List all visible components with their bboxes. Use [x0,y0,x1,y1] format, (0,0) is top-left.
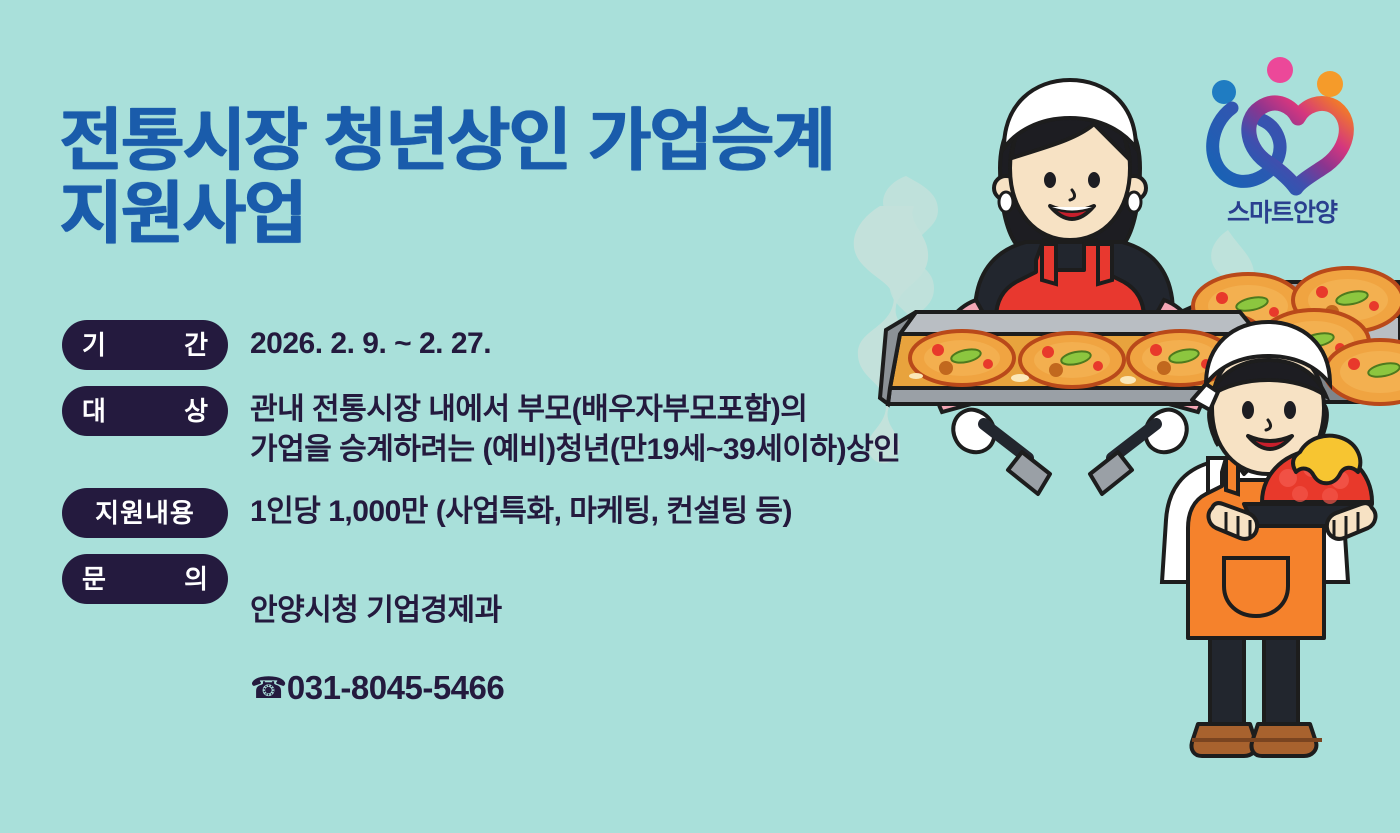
info-list: 기 간 2026. 2. 9. ~ 2. 27. 대 상 관내 전통시장 내에서… [62,318,1182,761]
badge-support: 지원내용 [62,488,228,538]
smart-anyang-logo: 스마트안양 [1192,46,1372,231]
badge-target-char1: 대 [82,398,106,424]
man-vendor-illustration [1162,322,1375,756]
logo-wordmark: 스마트안양 [1192,193,1372,229]
badge-target: 대 상 [62,386,228,436]
period-value: 2026. 2. 9. ~ 2. 27. [250,318,491,364]
info-row-contact: 문 의 안양시청 기업경제과 ☎ 031-8045-5466 [62,552,1182,747]
badge-contact-char2: 의 [184,566,208,592]
steam-right-icon [1211,230,1254,402]
title-line-2: 지원사업 [60,178,835,251]
contact-phone-line: ☎ 031-8045-5466 [250,667,504,709]
support-value: 1인당 1,000만 (사업특화, 마케팅, 컨설팅 등) [250,486,792,532]
info-row-period: 기 간 2026. 2. 9. ~ 2. 27. [62,318,1182,370]
badge-contact: 문 의 [62,554,228,604]
badge-period: 기 간 [62,320,228,370]
badge-contact-char1: 문 [82,566,106,592]
badge-period-char1: 기 [82,332,106,358]
title-line-1: 전통시장 청년상인 가업승계 [60,105,835,178]
badge-support-label: 지원내용 [95,500,195,526]
logo-dot-orange [1317,71,1343,97]
contact-department: 안양시청 기업경제과 [250,592,504,630]
logo-dot-pink [1267,57,1293,83]
smart-anyang-logo-mark [1192,46,1372,206]
telephone-icon: ☎ [250,674,287,704]
badge-target-char2: 상 [184,398,208,424]
poster-root: 전통시장 청년상인 가업승계 지원사업 기 간 2026. 2. 9. ~ 2.… [0,0,1400,833]
contact-block: 안양시청 기업경제과 ☎ 031-8045-5466 [250,552,504,747]
badge-period-char2: 간 [184,332,208,358]
logo-dot-blue [1212,80,1236,104]
contact-phone-number: 031-8045-5466 [287,667,504,709]
info-row-target: 대 상 관내 전통시장 내에서 부모(배우자부모포함)의 가업을 승계하려는 (… [62,384,1182,470]
page-title: 전통시장 청년상인 가업승계 지원사업 [60,105,835,252]
info-row-support: 지원내용 1인당 1,000만 (사업특화, 마케팅, 컨설팅 등) [62,486,1182,538]
target-value: 관내 전통시장 내에서 부모(배우자부모포함)의 가업을 승계하려는 (예비)청… [250,384,900,470]
jeon-stack-tray [1159,268,1400,404]
